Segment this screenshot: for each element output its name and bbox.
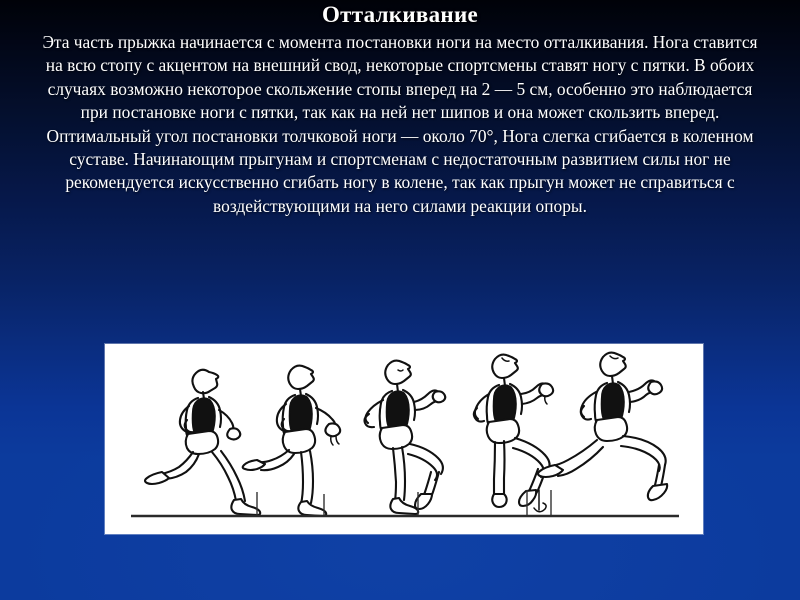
figure-phase-3-foot-plant bbox=[365, 361, 446, 516]
figure-phase-5-takeoff-flight bbox=[538, 353, 667, 501]
long-jump-takeoff-sequence-graphic bbox=[105, 344, 703, 534]
illustration-panel bbox=[105, 344, 703, 534]
page-title: Отталкивание bbox=[0, 2, 800, 28]
slide-body-text: Эта часть прыжка начинается с момента по… bbox=[36, 31, 764, 218]
slide-canvas: Отталкивание Эта часть прыжка начинается… bbox=[0, 0, 800, 600]
figure-phase-1-approach-stride bbox=[145, 370, 260, 516]
figure-phase-4-push-off bbox=[474, 355, 553, 516]
